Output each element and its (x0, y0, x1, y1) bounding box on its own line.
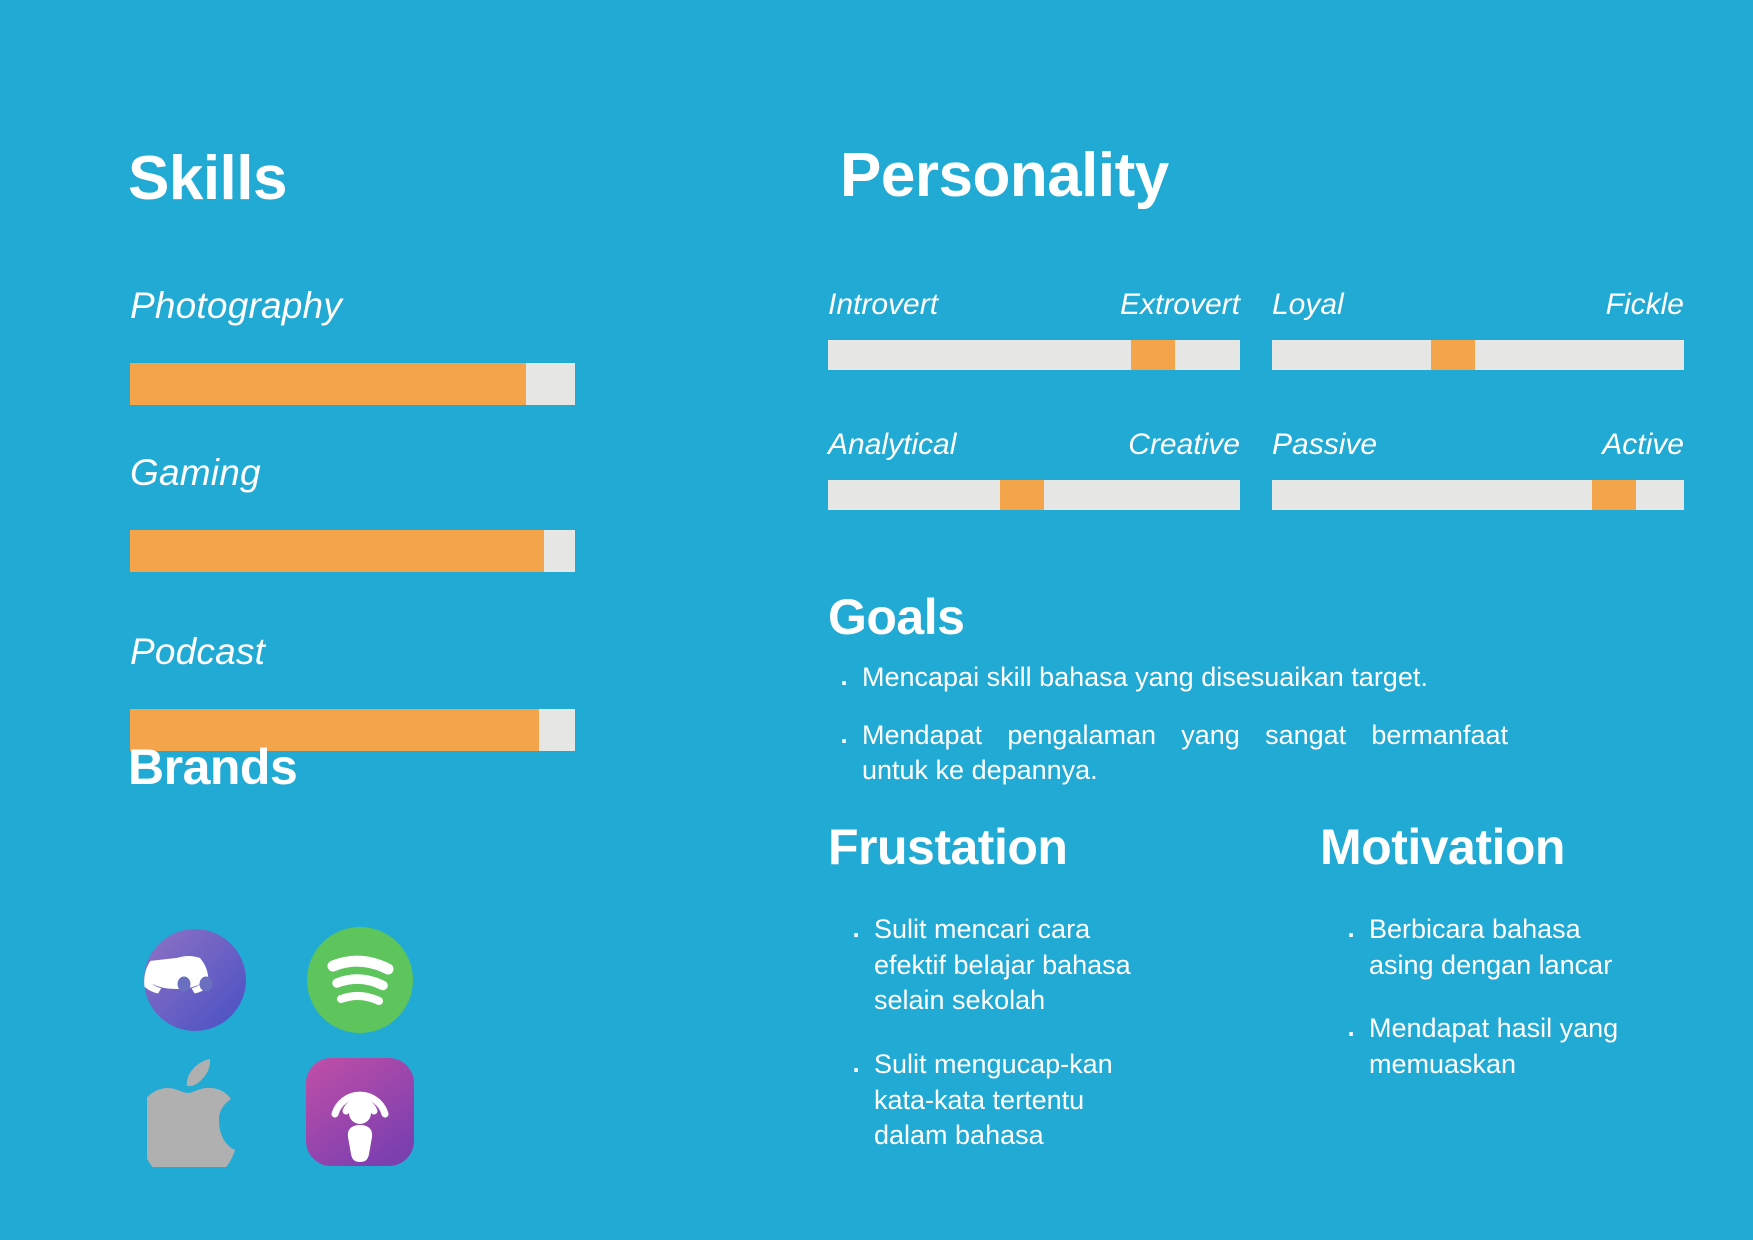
frustation-list: Sulit mencari cara efektif belajar bahas… (840, 912, 1140, 1154)
skill-item-podcast: Podcast (130, 631, 580, 751)
discord-icon (143, 928, 247, 1032)
personality-pair-introvert-extrovert: Introvert Extrovert (828, 288, 1240, 370)
personality-slider-marker[interactable] (1431, 340, 1475, 370)
skill-label: Gaming (130, 452, 580, 494)
pair-label-left: Loyal (1272, 288, 1344, 322)
list-item: Mendapat pengalaman yang sangat bermanfa… (828, 718, 1508, 789)
brands-heading: Brands (128, 742, 297, 792)
personality-slider-marker[interactable] (1131, 340, 1175, 370)
pair-label-right: Extrovert (1120, 288, 1240, 322)
pair-label-right: Active (1602, 428, 1684, 462)
motivation-list: Berbicara bahasa asing dengan lancar Men… (1335, 912, 1635, 1083)
skill-label: Podcast (130, 631, 580, 673)
skill-label: Photography (130, 285, 580, 327)
pair-labels: Loyal Fickle (1272, 288, 1684, 322)
list-item: Sulit mencari cara efektif belajar bahas… (840, 912, 1140, 1019)
personality-heading: Personality (840, 145, 1169, 207)
personality-slider-track[interactable] (828, 340, 1240, 370)
personality-sliders: Introvert Extrovert Loyal Fickle Analyti… (828, 288, 1688, 510)
personality-slider-track[interactable] (1272, 480, 1684, 510)
skill-item-gaming: Gaming (130, 452, 580, 572)
list-item: Mendapat hasil yang memuaskan (1335, 1011, 1635, 1082)
brand-apple-podcasts[interactable] (305, 1057, 415, 1167)
persona-card: Skills Photography Gaming Podcast Brands (0, 0, 1753, 1240)
personality-slider-track[interactable] (828, 480, 1240, 510)
apple-podcasts-icon (305, 1057, 415, 1167)
brand-spotify[interactable] (305, 925, 415, 1035)
personality-pair-passive-active: Passive Active (1272, 428, 1684, 510)
skill-progress-fill (130, 530, 544, 572)
list-item: Sulit mengucap-kan kata-kata tertentu da… (840, 1047, 1140, 1154)
list-item: Mencapai skill bahasa yang disesuaikan t… (828, 660, 1508, 696)
apple-icon (147, 1057, 243, 1167)
motivation-heading: Motivation (1320, 822, 1565, 872)
pair-labels: Analytical Creative (828, 428, 1240, 462)
skill-item-photography: Photography (130, 285, 580, 405)
brands-grid (140, 925, 420, 1167)
frustation-heading: Frustation (828, 822, 1067, 872)
pair-labels: Introvert Extrovert (828, 288, 1240, 322)
skill-progress-track[interactable] (130, 363, 575, 405)
goals-list: Mencapai skill bahasa yang disesuaikan t… (828, 660, 1508, 789)
personality-pair-analytical-creative: Analytical Creative (828, 428, 1240, 510)
skills-heading: Skills (128, 148, 287, 210)
pair-label-left: Passive (1272, 428, 1377, 462)
personality-slider-marker[interactable] (1000, 480, 1044, 510)
skill-progress-fill (130, 363, 526, 405)
skill-progress-track[interactable] (130, 530, 575, 572)
pair-label-left: Analytical (828, 428, 956, 462)
spotify-icon (306, 926, 414, 1034)
brand-apple[interactable] (140, 1057, 250, 1167)
goals-heading: Goals (828, 592, 964, 642)
pair-label-right: Creative (1128, 428, 1240, 462)
personality-slider-track[interactable] (1272, 340, 1684, 370)
brand-discord[interactable] (140, 925, 250, 1035)
personality-pair-loyal-fickle: Loyal Fickle (1272, 288, 1684, 370)
personality-slider-marker[interactable] (1592, 480, 1636, 510)
pair-labels: Passive Active (1272, 428, 1684, 462)
pair-label-right: Fickle (1606, 288, 1684, 322)
list-item: Berbicara bahasa asing dengan lancar (1335, 912, 1635, 983)
pair-label-left: Introvert (828, 288, 938, 322)
